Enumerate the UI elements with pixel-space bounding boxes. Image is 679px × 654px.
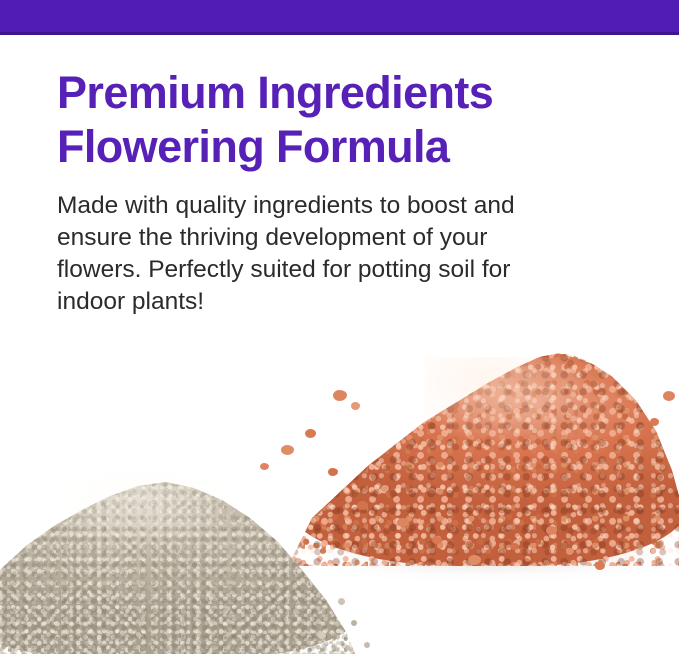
- marketing-text-block: Premium Ingredients Flowering Formula Ma…: [57, 66, 577, 318]
- top-accent-bar: [0, 0, 679, 35]
- grey-scatter-pellet: [338, 598, 345, 605]
- grey-scatter-pellet: [300, 578, 305, 583]
- page-title: Premium Ingredients Flowering Formula: [57, 66, 577, 174]
- body-copy-line-1: Made with quality ingredients to boost a…: [57, 190, 577, 222]
- grey-scatter-pellet: [351, 620, 357, 626]
- headline-line-1: Premium Ingredients: [57, 66, 577, 120]
- grey-fertilizer-pellets-pile: [0, 460, 358, 654]
- headline-line-2: Flowering Formula: [57, 120, 577, 174]
- body-copy-line-4: indoor plants!: [57, 286, 577, 318]
- grey-pellet-texture-detail: [0, 460, 358, 654]
- body-copy: Made with quality ingredients to boost a…: [57, 174, 577, 318]
- body-copy-line-3: flowers. Perfectly suited for potting so…: [57, 254, 577, 286]
- orange-scatter-granule: [595, 562, 605, 570]
- product-feature-banner: { "banner": { "accent_bar": { "color": "…: [0, 0, 679, 654]
- grey-scatter-pellet: [318, 632, 326, 639]
- body-copy-line-2: ensure the thriving development of your: [57, 222, 577, 254]
- product-photo-area: [0, 330, 679, 654]
- grey-scatter-pellet: [364, 642, 370, 648]
